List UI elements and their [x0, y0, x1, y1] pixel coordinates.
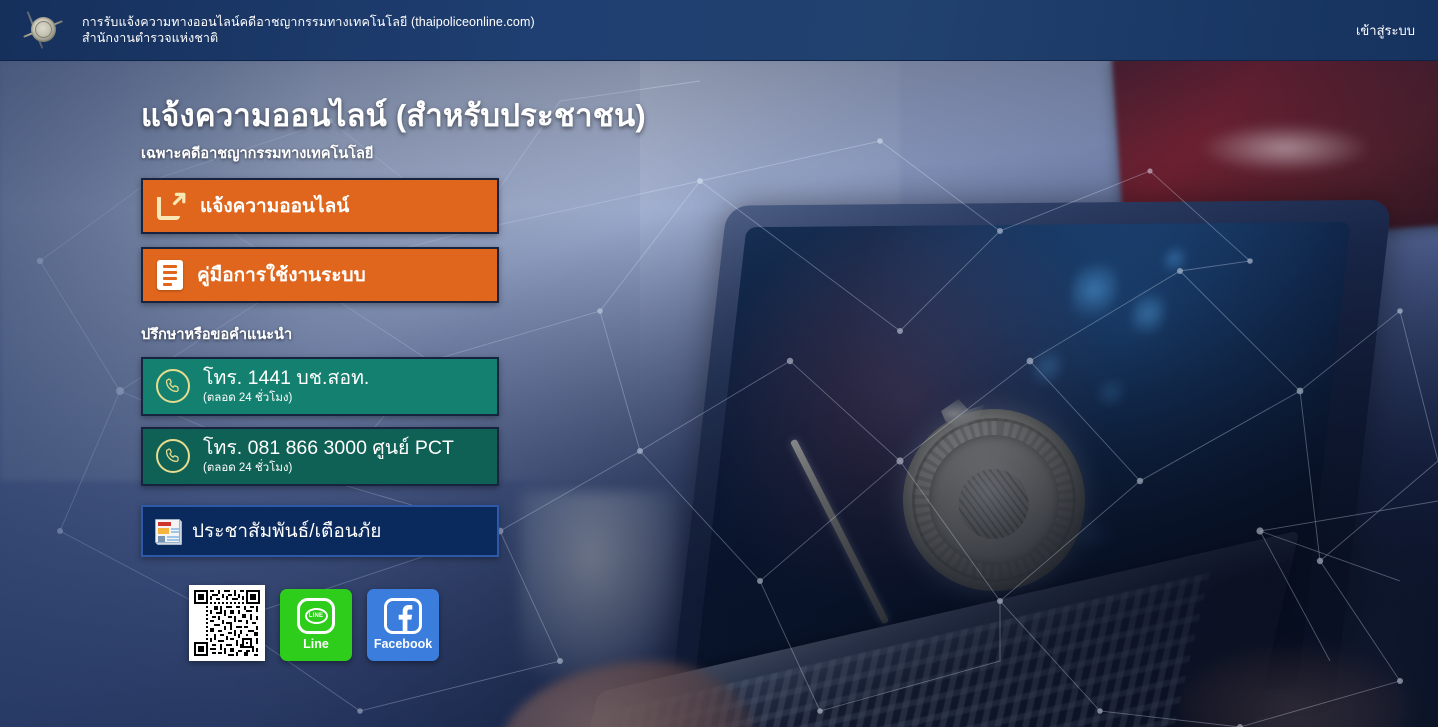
facebook-button-label: Facebook — [374, 637, 432, 651]
announcement-button[interactable]: ประชาสัมพันธ์/เตือนภัย — [141, 505, 499, 557]
hotline-pct-label: โทร. 081 866 3000 ศูนย์ PCT — [203, 438, 454, 458]
line-icon-label: LINE — [305, 608, 328, 624]
hotline-1441-button[interactable]: โทร. 1441 บช.สอท. (ตลอด 24 ชั่วโมง) — [141, 357, 499, 416]
announcement-button-label: ประชาสัมพันธ์/เตือนภัย — [192, 516, 381, 546]
newspaper-icon — [155, 519, 180, 543]
header-title-group: การรับแจ้งความทางออนไลน์คดีอาชญากรรมทางเ… — [82, 14, 535, 47]
external-link-icon — [157, 191, 186, 220]
report-online-button[interactable]: แจ้งความออนไลน์ — [141, 178, 499, 234]
hotline-pct-note: (ตลอด 24 ชั่วโมง) — [203, 462, 454, 474]
page-subtitle: เฉพาะคดีอาชญากรรมทางเทคโนโลยี — [141, 142, 521, 165]
line-icon: LINE — [297, 598, 335, 634]
phone-icon — [156, 369, 190, 403]
social-links-row: LINE Line Facebook — [189, 585, 521, 661]
facebook-button[interactable]: Facebook — [367, 589, 439, 661]
line-button-label: Line — [303, 637, 329, 651]
hotline-1441-label: โทร. 1441 บช.สอท. — [203, 368, 369, 388]
user-manual-button[interactable]: คู่มือการใช้งานระบบ — [141, 247, 499, 303]
line-button[interactable]: LINE Line — [280, 589, 352, 661]
site-header: การรับแจ้งความทางออนไลน์คดีอาชญากรรมทางเ… — [0, 0, 1438, 61]
hero-content: แจ้งความออนไลน์ (สำหรับประชาชน) เฉพาะคดี… — [141, 98, 521, 661]
user-manual-button-label: คู่มือการใช้งานระบบ — [197, 260, 366, 290]
document-manual-icon — [157, 260, 183, 290]
hotline-1441-note: (ตลอด 24 ชั่วโมง) — [203, 392, 369, 404]
hotline-pct-button[interactable]: โทร. 081 866 3000 ศูนย์ PCT (ตลอด 24 ชั่… — [141, 427, 499, 486]
advice-section-label: ปรึกษาหรือขอคำแนะนำ — [141, 323, 521, 346]
page-root: การรับแจ้งความทางออนไลน์คดีอาชญากรรมทางเ… — [0, 0, 1438, 727]
police-emblem-icon — [20, 8, 66, 52]
login-link[interactable]: เข้าสู่ระบบ — [1356, 20, 1415, 41]
header-title-line2: สำนักงานตำรวจแห่งชาติ — [82, 30, 535, 47]
report-online-button-label: แจ้งความออนไลน์ — [200, 191, 349, 221]
page-title: แจ้งความออนไลน์ (สำหรับประชาชน) — [141, 98, 521, 135]
header-title-line1: การรับแจ้งความทางออนไลน์คดีอาชญากรรมทางเ… — [82, 14, 535, 31]
facebook-icon — [384, 598, 422, 634]
phone-icon — [156, 439, 190, 473]
qr-code-icon[interactable] — [189, 585, 265, 661]
